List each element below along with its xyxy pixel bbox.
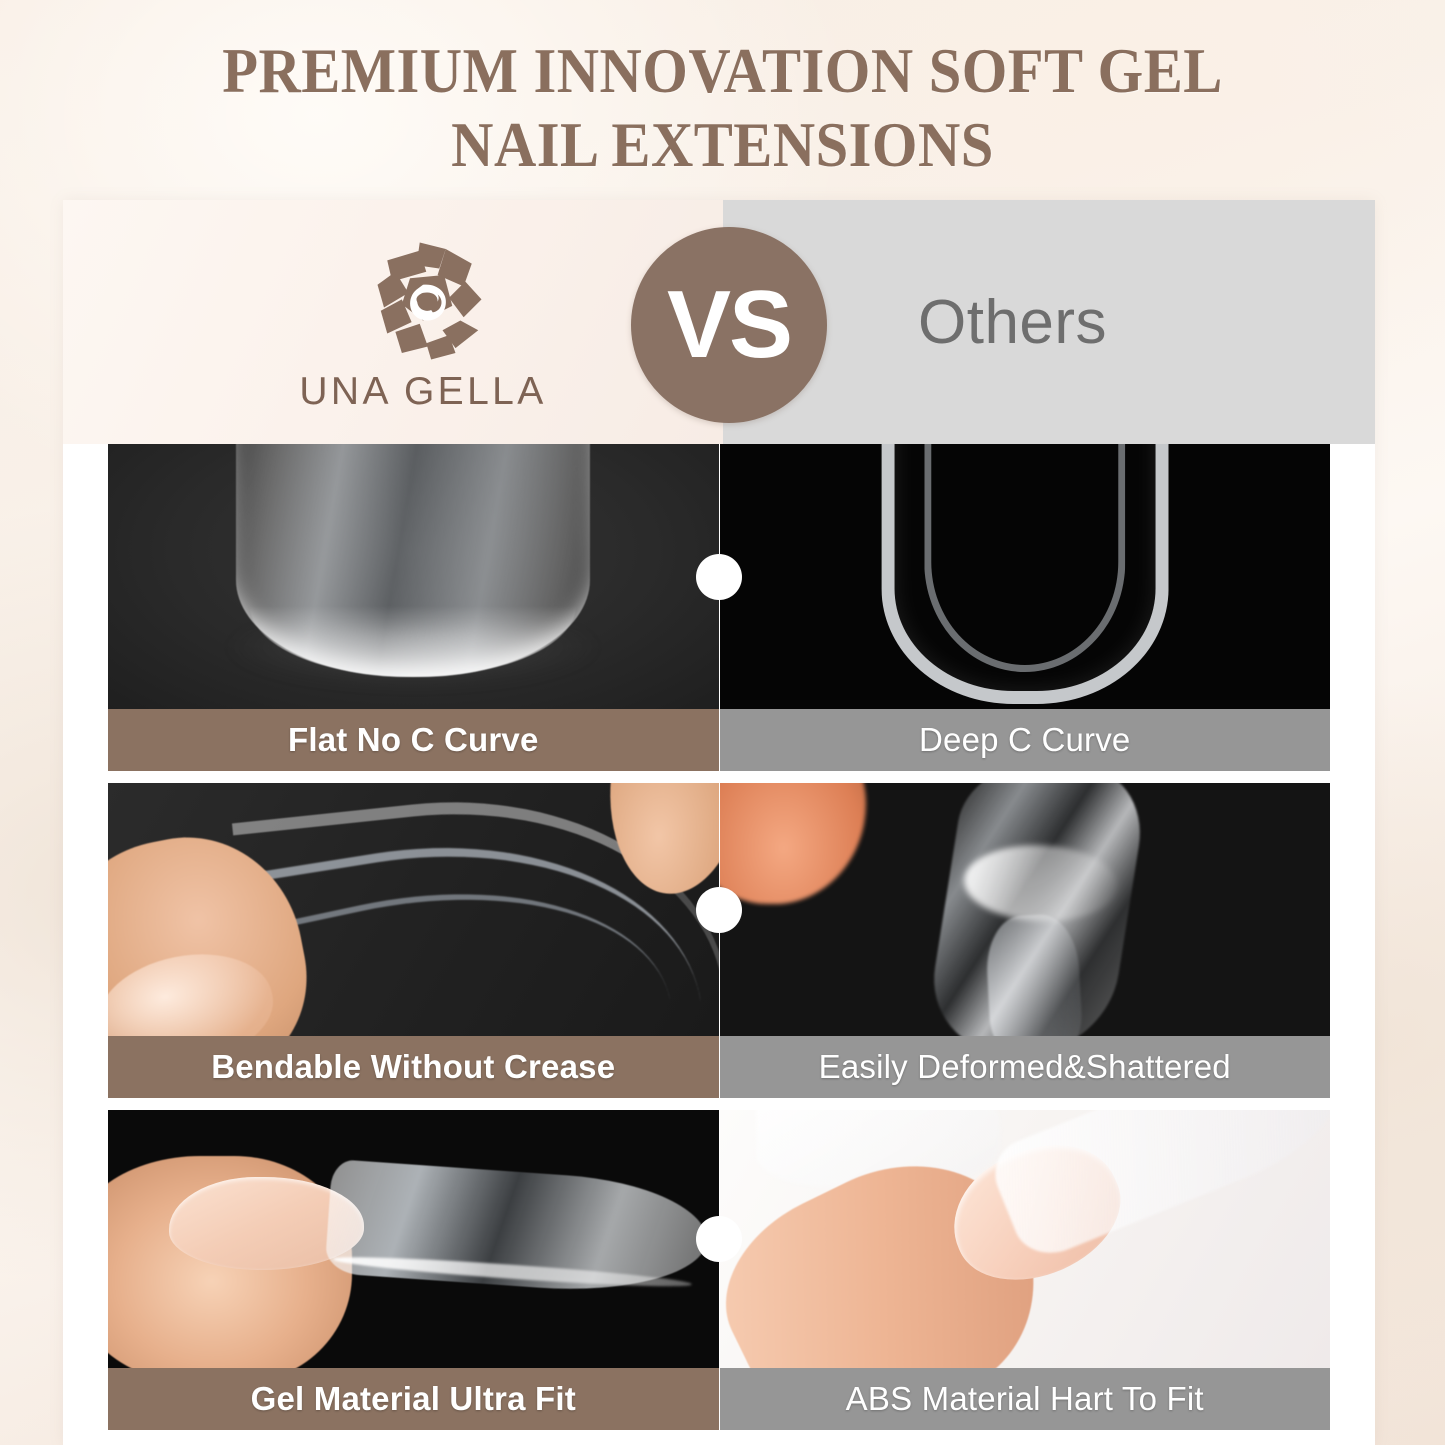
deformed-tip-photo xyxy=(720,783,1331,1036)
page-title: PREMIUM INNOVATION SOFT GEL NAIL EXTENSI… xyxy=(0,34,1445,182)
brand-name: UNA GELLA xyxy=(299,370,546,414)
row1-other-caption: Deep C Curve xyxy=(720,709,1331,771)
comparison-rows: Flat No C Curve Deep C Curve xyxy=(63,444,1375,1445)
row1-other-cell xyxy=(720,444,1331,709)
deformed-tip-shape xyxy=(923,783,1152,1036)
row3-divider-dot xyxy=(696,1216,742,1262)
row3-captions: Gel Material Ultra Fit ABS Material Hart… xyxy=(63,1368,1375,1430)
row3-brand-cell xyxy=(108,1110,719,1368)
long-gel-tip-shape xyxy=(324,1159,709,1299)
flat-tip-shape xyxy=(236,444,590,677)
c-curve-inner-shape xyxy=(924,444,1125,672)
vs-badge: VS xyxy=(631,227,827,423)
row2-divider-dot xyxy=(696,887,742,933)
comparison-row-2: Bendable Without Crease Easily Deformed&… xyxy=(63,783,1375,1098)
row1-brand-cell xyxy=(108,444,719,709)
abs-tip-on-finger-photo xyxy=(720,1110,1331,1368)
bending-clear-tip-photo xyxy=(108,783,719,1036)
row2-brand-caption: Bendable Without Crease xyxy=(108,1036,719,1098)
row3-other-cell xyxy=(720,1110,1331,1368)
infographic-page: PREMIUM INNOVATION SOFT GEL NAIL EXTENSI… xyxy=(0,0,1445,1445)
row1-divider-dot xyxy=(696,554,742,600)
comparison-header: UNA GELLA Others VS xyxy=(63,200,1375,444)
row2-captions: Bendable Without Crease Easily Deformed&… xyxy=(63,1036,1375,1098)
title-line-1: PREMIUM INNOVATION SOFT GEL xyxy=(116,34,1330,108)
row3-brand-caption: Gel Material Ultra Fit xyxy=(108,1368,719,1430)
abs-tip-shape xyxy=(985,1110,1330,1265)
row1-brand-caption: Flat No C Curve xyxy=(108,709,719,771)
comparison-row-1: Flat No C Curve Deep C Curve xyxy=(63,444,1375,771)
row1-captions: Flat No C Curve Deep C Curve xyxy=(63,709,1375,771)
gel-tip-on-finger-photo xyxy=(108,1110,719,1368)
comparison-row-3: Gel Material Ultra Fit ABS Material Hart… xyxy=(63,1110,1375,1430)
title-line-2: NAIL EXTENSIONS xyxy=(116,108,1330,182)
deep-c-curve-tip-photo xyxy=(720,444,1331,709)
brand-lockup: UNA GELLA xyxy=(299,236,546,414)
fingertip-shape xyxy=(720,783,867,904)
row2-other-caption: Easily Deformed&Shattered xyxy=(720,1036,1331,1098)
row2-other-cell xyxy=(720,783,1331,1036)
others-label: Others xyxy=(918,287,1107,358)
flat-nail-tip-photo xyxy=(108,444,719,709)
rose-icon xyxy=(339,236,507,366)
vs-label: VS xyxy=(667,277,791,373)
comparison-card: UNA GELLA Others VS xyxy=(63,200,1375,1445)
brand-panel: UNA GELLA xyxy=(63,200,723,444)
row3-other-caption: ABS Material Hart To Fit xyxy=(720,1368,1331,1430)
row2-brand-cell xyxy=(108,783,719,1036)
